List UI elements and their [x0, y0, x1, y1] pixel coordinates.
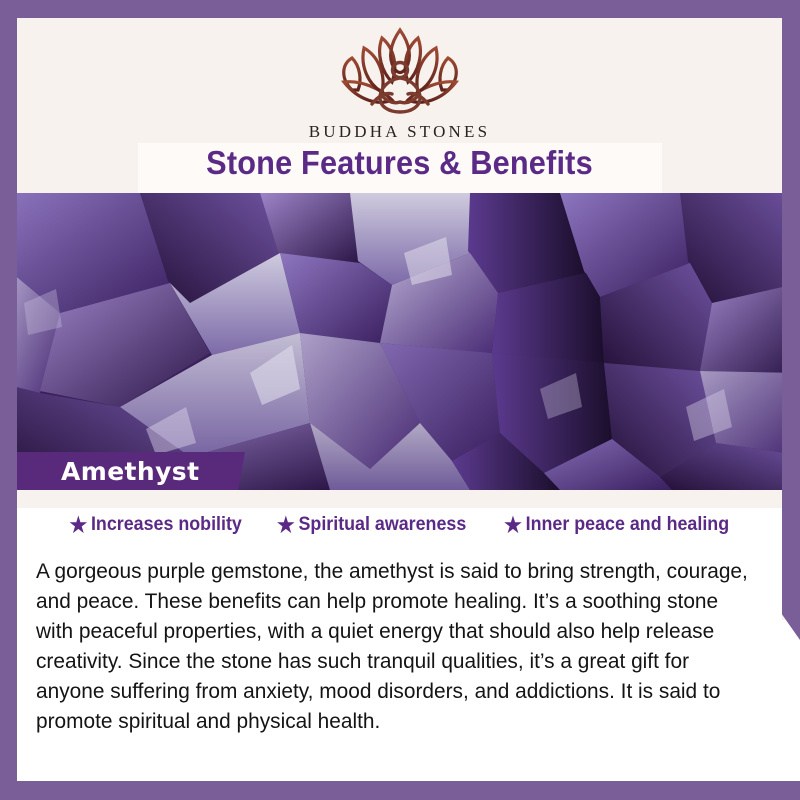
benefit-item: ★ Inner peace and healing	[504, 514, 729, 536]
benefits-list: ★ Increases nobility ★ Spiritual awarene…	[0, 514, 800, 536]
benefit-label: Spiritual awareness	[299, 514, 467, 536]
stone-name-label: Amethyst	[61, 457, 199, 486]
benefit-item: ★ Spiritual awareness	[277, 514, 466, 536]
frame-border-right	[782, 0, 800, 640]
page-title: Stone Features & Benefits	[44, 144, 755, 182]
brand-name: BUDDHA STONES	[309, 122, 491, 142]
frame-border-left	[0, 0, 17, 800]
amethyst-photo	[0, 193, 800, 490]
benefit-item: ★ Increases nobility	[70, 514, 242, 536]
header: BUDDHA STONES Stone Features & Benefits	[17, 18, 782, 193]
brand-logo: BUDDHA STONES	[17, 26, 782, 142]
stone-name-banner: Amethyst	[17, 452, 245, 490]
content-spacer	[17, 490, 782, 508]
benefit-label: Inner peace and healing	[525, 514, 728, 536]
star-icon: ★	[504, 515, 522, 536]
product-infographic-card: BUDDHA STONES Stone Features & Benefits …	[0, 0, 800, 800]
stone-description: A gorgeous purple gemstone, the amethyst…	[36, 556, 756, 736]
star-icon: ★	[70, 515, 88, 536]
star-icon: ★	[277, 515, 295, 536]
lotus-meditation-icon	[334, 26, 466, 118]
benefit-label: Increases nobility	[91, 514, 242, 536]
frame-border-bottom	[0, 781, 800, 800]
frame-border-top	[0, 0, 800, 18]
